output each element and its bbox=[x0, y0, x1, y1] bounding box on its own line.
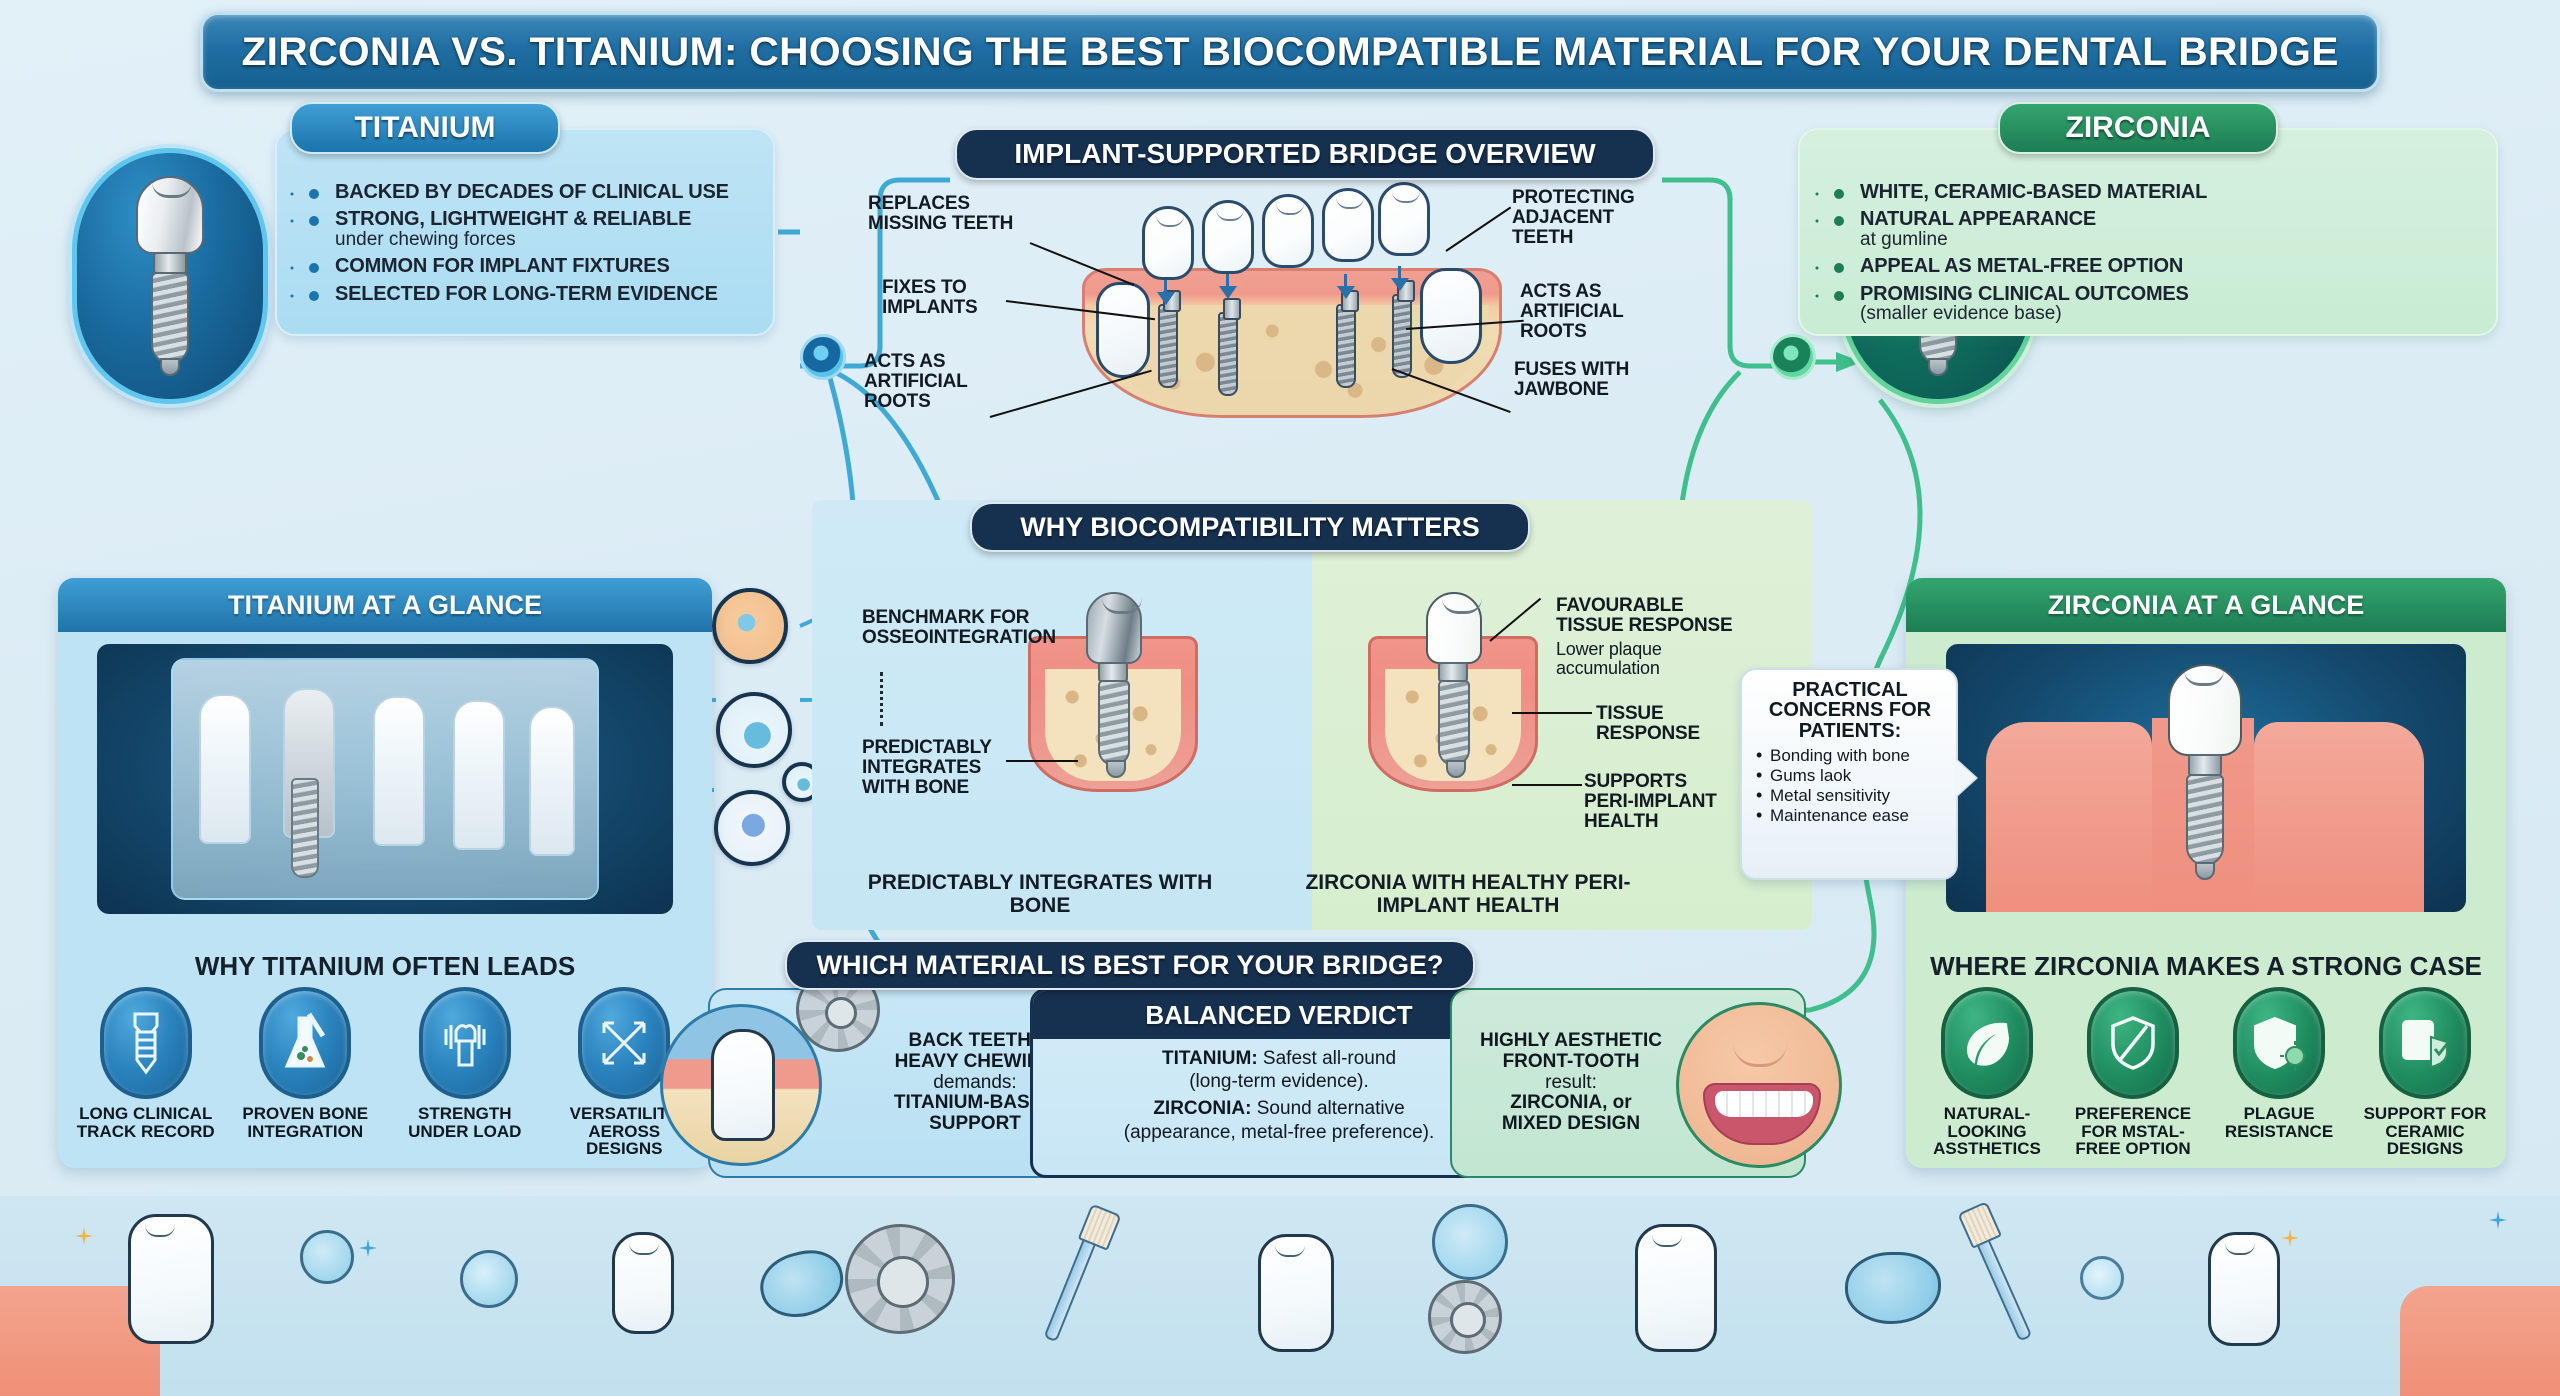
tooth-decoration bbox=[128, 1214, 214, 1344]
leaf-icon bbox=[1941, 987, 2033, 1099]
implant-post bbox=[1392, 294, 1412, 378]
bullet-main: SELECTED FOR LONG-TERM EVIDENCE bbox=[335, 283, 718, 305]
bullet-sub: (smaller evidence base) bbox=[1860, 303, 2062, 324]
caption-titanium-integration: PREDICTABLY INTEGRATES WITH BONE bbox=[860, 872, 1220, 917]
bridge-tooth bbox=[1142, 206, 1194, 280]
page-title: ZIRCONIA VS. TITANIUM: CHOOSING THE BEST… bbox=[241, 30, 2338, 75]
titanium-card: BACKED BY DECADES OF CLINICAL USE STRONG… bbox=[275, 128, 775, 336]
list-item: Metal sensitivity bbox=[1754, 786, 1946, 806]
annotation-fuses-with-jawbone: FUSES WITH JAWBONE bbox=[1514, 360, 1664, 400]
osteoblast-cell-icon bbox=[712, 588, 788, 664]
ceramic-shield-icon bbox=[2379, 987, 2471, 1099]
verdict-left-line5: SUPPORT bbox=[929, 1113, 1021, 1134]
tooth-decoration bbox=[1635, 1224, 1717, 1352]
icon-label: NATURAL-LOOKING ASSTHETICS bbox=[1919, 1105, 2055, 1158]
biocompatibility-heading: WHY BIOCOMPATIBILITY MATTERS bbox=[970, 502, 1530, 552]
overview-heading: IMPLANT-SUPPORTED BRIDGE OVERVIEW bbox=[955, 128, 1655, 180]
verdict-right-line1: HIGHLY AESTHETIC bbox=[1480, 1030, 1662, 1051]
verdict-strip: BACK TEETH / HEAVY CHEWING demands: TITA… bbox=[668, 988, 1808, 1180]
implant-post bbox=[1336, 304, 1356, 388]
cell-decoration bbox=[460, 1250, 518, 1308]
node-zirconia-connector bbox=[1770, 334, 1816, 380]
titanium-icon-item-2: PROVEN BONE INTEGRATION bbox=[230, 987, 380, 1140]
titanium-icons-row: LONG CLINICAL TRACK RECORD PROVEN BONE I… bbox=[58, 987, 712, 1158]
list-item: NATURAL APPEARANCE at gumline bbox=[1860, 209, 2482, 249]
verdict-heading: WHICH MATERIAL IS BEST FOR YOUR BRIDGE? bbox=[785, 940, 1475, 990]
titanium-implant-icon bbox=[133, 176, 207, 376]
bullet-sub: at gumline bbox=[1860, 229, 1948, 250]
zirconia-bullet-list: WHITE, CERAMIC-BASED MATERIAL NATURAL AP… bbox=[1860, 182, 2482, 323]
zirconia-glance-caption: WHERE ZIRCONIA MAKES A STRONG CASE bbox=[1906, 951, 2506, 982]
natural-tooth-left bbox=[1096, 282, 1150, 378]
verdict-right-line2: FRONT-TOOTH bbox=[1503, 1051, 1640, 1072]
cell-decoration bbox=[300, 1230, 354, 1284]
annotation-acts-as-artificial-roots-right: ACTS AS ARTIFICIAL ROOTS bbox=[1520, 282, 1660, 342]
verdict-right-line5: MIXED DESIGN bbox=[1502, 1113, 1640, 1134]
list-item: APPEAL AS METAL-FREE OPTION bbox=[1860, 256, 2482, 276]
concerns-heading: PRACTICAL CONCERNS FOR PATIENTS: bbox=[1754, 680, 1946, 741]
tooth-decoration bbox=[2208, 1232, 2280, 1346]
shield-germ-icon bbox=[2233, 987, 2325, 1099]
gum-right bbox=[2254, 722, 2424, 912]
natural-tooth-right bbox=[1420, 268, 1482, 364]
drop-arrow-icon bbox=[1219, 286, 1237, 299]
dotted-divider bbox=[880, 672, 883, 726]
annotation-replaces-missing-teeth: REPLACES MISSING TEETH bbox=[868, 194, 1048, 234]
list-item: SELECTED FOR LONG-TERM EVIDENCE bbox=[335, 284, 759, 304]
verdict-titanium-label: TITANIUM: bbox=[1162, 1048, 1258, 1069]
titanium-icon-item-3: STRENGTH UNDER LOAD bbox=[390, 987, 540, 1140]
node-titanium-connector bbox=[800, 334, 846, 380]
zirconia-card: WHITE, CERAMIC-BASED MATERIAL NATURAL AP… bbox=[1798, 128, 2498, 336]
titanium-at-a-glance-panel: TITANIUM AT A GLANCE WHY TITANIUM OFTEN … bbox=[58, 578, 712, 1168]
tooth-decoration bbox=[1258, 1234, 1334, 1352]
infographic-title-bar: ZIRCONIA VS. TITANIUM: CHOOSING THE BEST… bbox=[200, 12, 2380, 92]
zirconia-icon-item-3: PLAGUE RESISTANCE bbox=[2211, 987, 2347, 1140]
tooth-decoration bbox=[612, 1232, 674, 1334]
icon-label: STRENGTH UNDER LOAD bbox=[390, 1105, 540, 1140]
verdict-right-text: HIGHLY AESTHETIC FRONT-TOOTH result: ZIR… bbox=[1466, 1031, 1676, 1135]
zirconia-icon-item-1: NATURAL-LOOKING ASSTHETICS bbox=[1919, 987, 2055, 1158]
cell-decoration bbox=[2080, 1256, 2124, 1300]
strength-bone-icon bbox=[419, 987, 511, 1099]
bridge-tooth bbox=[1378, 182, 1430, 256]
list-item: Bonding with bone bbox=[1754, 746, 1946, 766]
flask-icon bbox=[259, 987, 351, 1099]
verdict-left-line1: BACK TEETH / bbox=[909, 1030, 1042, 1051]
list-item: STRONG, LIGHTWEIGHT & RELIABLE under che… bbox=[335, 209, 759, 249]
list-item: PROMISING CLINICAL OUTCOMES (smaller evi… bbox=[1860, 284, 2482, 324]
titanium-icon-item-1: LONG CLINICAL TRACK RECORD bbox=[71, 987, 221, 1140]
drop-arrow-icon bbox=[1391, 278, 1409, 291]
icon-label: PLAGUE RESISTANCE bbox=[2211, 1105, 2347, 1140]
zirconia-glance-heading: ZIRCONIA AT A GLANCE bbox=[1906, 578, 2506, 632]
label-lower-plaque-accumulation: Lower plaque accumulation bbox=[1556, 640, 1746, 678]
stem-cell-icon bbox=[714, 790, 790, 866]
drop-arrow-icon bbox=[1157, 292, 1175, 305]
titanium-glance-heading: TITANIUM AT A GLANCE bbox=[58, 578, 712, 632]
arrows-cross-icon bbox=[578, 987, 670, 1099]
zirconia-icon-item-2: PREFERENCE FOR MSTAL-FREE OPTION bbox=[2065, 987, 2201, 1158]
bridge-tooth bbox=[1202, 200, 1254, 274]
implant-screw-icon bbox=[100, 987, 192, 1099]
zirconia-heading: ZIRCONIA bbox=[1998, 102, 2278, 154]
label-supports-peri-implant-health: SUPPORTS PERI-IMPLANT HEALTH bbox=[1584, 772, 1734, 832]
bullet-main: NATURAL APPEARANCE bbox=[1860, 208, 2096, 230]
verdict-aesthetic-card: HIGHLY AESTHETIC FRONT-TOOTH result: ZIR… bbox=[1450, 988, 1806, 1178]
tooth-cross-section-icon bbox=[660, 1004, 822, 1166]
verdict-titanium-note: (long-term evidence). bbox=[1043, 1070, 1515, 1093]
verdict-left-line3: demands: bbox=[933, 1072, 1016, 1093]
titanium-heading: TITANIUM bbox=[290, 102, 560, 154]
decorative-bottom-strip bbox=[0, 1196, 2560, 1396]
verdict-zirconia-text: Sound alternative bbox=[1251, 1098, 1404, 1119]
bullet-main: WHITE, CERAMIC-BASED MATERIAL bbox=[1860, 181, 2207, 203]
bacteria-decoration bbox=[754, 1243, 851, 1325]
zirconia-implant-large-icon bbox=[2168, 664, 2242, 884]
label-benchmark-osseointegration: BENCHMARK FOR OSSEOINTEGRATION bbox=[862, 608, 1062, 648]
implant-bridge-overview-diagram: REPLACES MISSING TEETH FIXES TO IMPLANTS… bbox=[820, 182, 1820, 462]
toothbrush-decoration bbox=[1043, 1228, 1100, 1343]
titanium-xray-image bbox=[97, 644, 673, 914]
bullet-main: STRONG, LIGHTWEIGHT & RELIABLE bbox=[335, 208, 691, 230]
verdict-zirconia-note: (appearance, metal-free preference). bbox=[1043, 1121, 1515, 1144]
list-item: WHITE, CERAMIC-BASED MATERIAL bbox=[1860, 182, 2482, 202]
bullet-main: APPEAL AS METAL-FREE OPTION bbox=[1860, 255, 2183, 277]
verdict-titanium-text: Safest all-round bbox=[1258, 1048, 1396, 1069]
icon-label: LONG CLINICAL TRACK RECORD bbox=[71, 1105, 221, 1140]
titanium-implant-cross-section-icon bbox=[1086, 592, 1142, 780]
gum-left bbox=[1986, 722, 2152, 912]
list-item: BACKED BY DECADES OF CLINICAL USE bbox=[335, 182, 759, 202]
verdict-zirconia-label: ZIRCONIA: bbox=[1153, 1098, 1251, 1119]
label-tissue-response: TISSUE RESPONSE bbox=[1596, 704, 1736, 744]
label-favourable-tissue-response: FAVOURABLE TISSUE RESPONSE bbox=[1556, 596, 1754, 636]
annotation-acts-as-artificial-roots-left: ACTS AS ARTIFICIAL ROOTS bbox=[864, 352, 994, 412]
zirconia-implant-image bbox=[1946, 644, 2466, 912]
concerns-list: Bonding with bone Gums laok Metal sensit… bbox=[1754, 746, 1946, 826]
gum-decoration-right bbox=[2400, 1286, 2560, 1396]
bridge-tooth bbox=[1322, 188, 1374, 262]
practical-concerns-callout: PRACTICAL CONCERNS FOR PATIENTS: Bonding… bbox=[1740, 668, 1958, 880]
titanium-implant-badge bbox=[72, 148, 268, 404]
list-item: Maintenance ease bbox=[1754, 806, 1946, 826]
verdict-right-line4: ZIRCONIA, or bbox=[1510, 1092, 1631, 1113]
xray-implant-screw-icon bbox=[291, 778, 319, 878]
gear-decoration bbox=[1428, 1280, 1502, 1354]
list-item: COMMON FOR IMPLANT FIXTURES bbox=[335, 256, 759, 276]
icon-label: PROVEN BONE INTEGRATION bbox=[230, 1105, 380, 1140]
implant-post bbox=[1218, 312, 1238, 396]
bullet-main: BACKED BY DECADES OF CLINICAL USE bbox=[335, 181, 729, 203]
zirconia-icons-row: NATURAL-LOOKING ASSTHETICS PREFERENCE FO… bbox=[1906, 987, 2506, 1158]
smile-icon bbox=[1676, 1002, 1842, 1168]
annotation-fixes-to-implants: FIXES TO IMPLANTS bbox=[882, 278, 1012, 318]
bullet-main: PROMISING CLINICAL OUTCOMES bbox=[1860, 283, 2189, 305]
shield-slash-icon bbox=[2087, 987, 2179, 1099]
bacteria-decoration bbox=[1845, 1252, 1941, 1324]
zirconia-at-a-glance-panel: ZIRCONIA AT A GLANCE WHERE ZIRCONIA MAKE… bbox=[1906, 578, 2506, 1168]
titanium-bullet-list: BACKED BY DECADES OF CLINICAL USE STRONG… bbox=[335, 182, 759, 304]
toothbrush-decoration bbox=[1972, 1228, 2033, 1341]
list-item: Gums laok bbox=[1754, 766, 1946, 786]
cell-decoration bbox=[1432, 1204, 1508, 1280]
zirconia-implant-cross-section-icon bbox=[1426, 592, 1482, 780]
icon-label: PREFERENCE FOR MSTAL-FREE OPTION bbox=[2065, 1105, 2201, 1158]
bullet-main: COMMON FOR IMPLANT FIXTURES bbox=[335, 255, 670, 277]
drop-arrow-icon bbox=[1337, 286, 1355, 299]
gear-decoration bbox=[845, 1224, 955, 1334]
immune-cell-icon bbox=[716, 692, 792, 768]
annotation-protecting-adjacent-teeth: PROTECTING ADJACENT TEETH bbox=[1512, 188, 1672, 248]
verdict-right-line3: result: bbox=[1545, 1072, 1597, 1093]
zirconia-icon-item-4: SUPPORT FOR CERAMIC DESIGNS bbox=[2357, 987, 2493, 1158]
implant-post bbox=[1158, 304, 1178, 388]
titanium-glance-caption: WHY TITANIUM OFTEN LEADS bbox=[58, 951, 712, 982]
icon-label: SUPPORT FOR CERAMIC DESIGNS bbox=[2357, 1105, 2493, 1158]
caption-zirconia-health: ZIRCONIA WITH HEALTHY PERI-IMPLANT HEALT… bbox=[1268, 872, 1668, 917]
bridge-tooth bbox=[1262, 194, 1314, 268]
bullet-sub: under chewing forces bbox=[335, 229, 516, 250]
label-predictably-integrates-with-bone: PREDICTABLY INTEGRATES WITH BONE bbox=[862, 738, 1012, 798]
